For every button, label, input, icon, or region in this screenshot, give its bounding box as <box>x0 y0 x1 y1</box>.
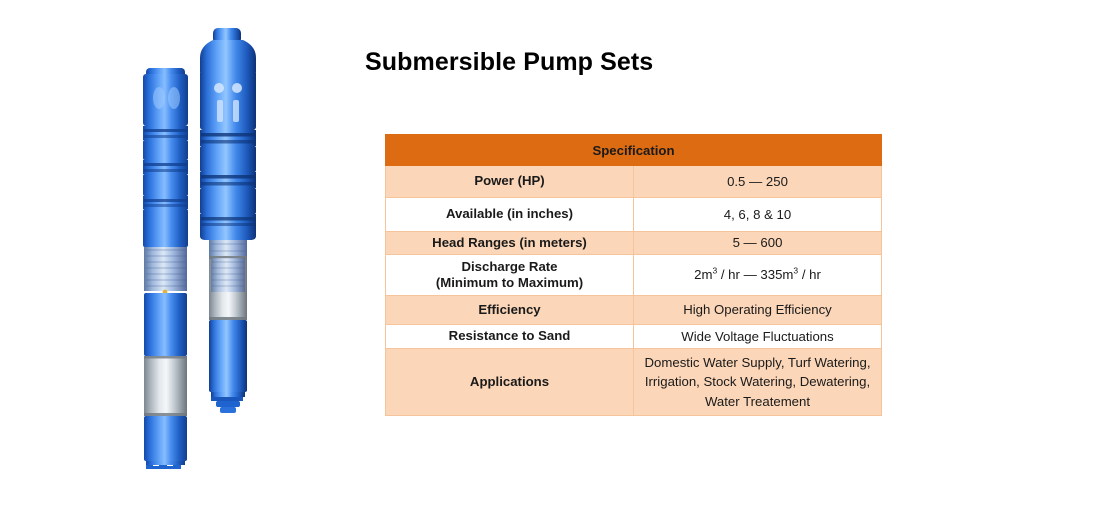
discharge-mid: / hr — 335m <box>717 267 793 282</box>
row-value-efficiency: High Operating Efficiency <box>634 296 882 325</box>
submersible-pump-right <box>200 28 256 413</box>
table-row: Power (HP) 0.5 — 250 <box>386 166 882 198</box>
row-value-discharge-rate: 2m3 / hr — 335m3 / hr <box>634 255 882 296</box>
submersible-pump-left <box>143 68 188 469</box>
table-row: Available (in inches) 4, 6, 8 & 10 <box>386 198 882 232</box>
specification-table: Specification Power (HP) 0.5 — 250 Avail… <box>385 134 882 416</box>
table-row: Applications Domestic Water Supply, Turf… <box>386 349 882 416</box>
row-value-resistance-to-sand: Wide Voltage Fluctuations <box>634 325 882 349</box>
slide-canvas: Submersible Pump Sets Specification Powe… <box>0 0 1096 506</box>
page-title: Submersible Pump Sets <box>365 48 653 77</box>
table-row: Efficiency High Operating Efficiency <box>386 296 882 325</box>
table-row: Resistance to Sand Wide Voltage Fluctuat… <box>386 325 882 349</box>
table-row: Head Ranges (in meters) 5 — 600 <box>386 232 882 255</box>
pump-illustration-svg <box>0 0 360 506</box>
row-label-power: Power (HP) <box>386 166 634 198</box>
row-value-power: 0.5 — 250 <box>634 166 882 198</box>
applications-line1: Domestic Water Supply, Turf Watering, <box>634 353 881 372</box>
table-header-row: Specification <box>386 135 882 166</box>
row-label-applications: Applications <box>386 349 634 416</box>
discharge-prefix: 2m <box>694 267 712 282</box>
row-label-available: Available (in inches) <box>386 198 634 232</box>
row-label-resistance-to-sand: Resistance to Sand <box>386 325 634 349</box>
table-row: Discharge Rate (Minimum to Maximum) 2m3 … <box>386 255 882 296</box>
row-value-head-ranges: 5 — 600 <box>634 232 882 255</box>
discharge-suffix: / hr <box>798 267 821 282</box>
pump-illustration <box>0 0 360 506</box>
applications-line3: Water Treatement <box>634 392 881 411</box>
row-value-applications: Domestic Water Supply, Turf Watering, Ir… <box>634 349 882 416</box>
discharge-label-line2: (Minimum to Maximum) <box>386 275 633 292</box>
table-header-cell: Specification <box>386 135 882 166</box>
row-label-head-ranges: Head Ranges (in meters) <box>386 232 634 255</box>
row-label-efficiency: Efficiency <box>386 296 634 325</box>
row-label-discharge-rate: Discharge Rate (Minimum to Maximum) <box>386 255 634 296</box>
discharge-label-line1: Discharge Rate <box>386 259 633 276</box>
applications-line2: Irrigation, Stock Watering, Dewatering, <box>634 372 881 391</box>
row-value-available: 4, 6, 8 & 10 <box>634 198 882 232</box>
